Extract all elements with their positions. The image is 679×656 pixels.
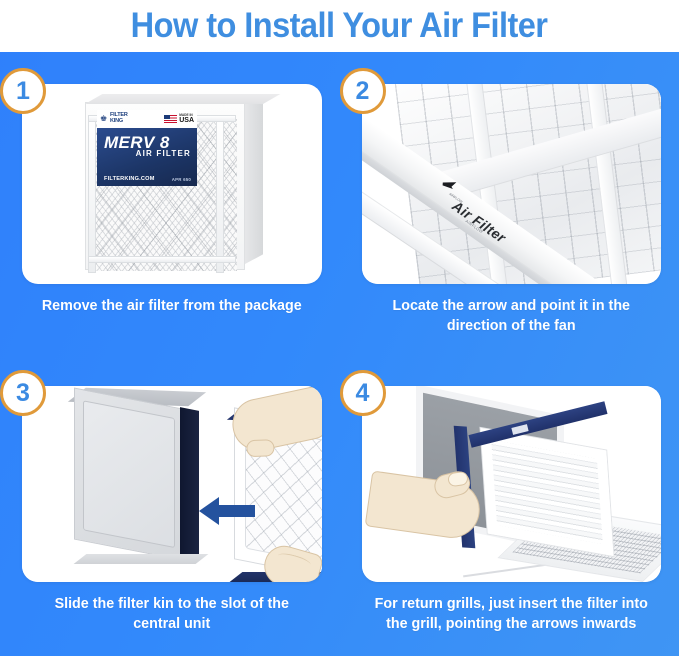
- central-unit-front: [74, 388, 182, 561]
- step-card-2: AIRFLOW Air Filter AIRFLOW 2 Locate the …: [340, 52, 679, 354]
- usa-flag-icon: [164, 115, 177, 123]
- step-caption-1: Remove the air filter from the package: [22, 297, 322, 317]
- step-2-image-card: AIRFLOW Air Filter AIRFLOW: [362, 84, 662, 284]
- header-band: How to Install Your Air Filter: [0, 0, 679, 52]
- step-caption-3: Slide the filter kin to the slot of the …: [22, 595, 322, 634]
- product-label-header: ♚ FILTER KING MADE IN: [97, 110, 197, 128]
- central-unit-bottom: [74, 554, 209, 564]
- made-in-usa-mark: MADE IN USA: [164, 114, 194, 124]
- step-badge-2: 2: [340, 68, 386, 114]
- brand-text: FILTER KING: [110, 113, 128, 124]
- central-unit-slot: [83, 400, 175, 548]
- page-title: How to Install Your Air Filter: [131, 6, 548, 46]
- product-label-body: MERV 8 AIR FILTER FILTERKING.COM APR 650: [97, 128, 197, 186]
- infographic-root: How to Install Your Air Filter: [0, 0, 679, 656]
- steps-grid: ♚ FILTER KING MADE IN: [0, 52, 679, 656]
- merv-block: MERV 8 AIR FILTER: [104, 134, 191, 158]
- step-3-illustration: [22, 386, 322, 582]
- step-4-illustration: [362, 386, 662, 582]
- filter-king-logo: ♚ FILTER KING: [100, 113, 128, 124]
- filter-top-face: [85, 94, 280, 104]
- filter-rail-left: [88, 117, 96, 273]
- slide-direction-arrow-icon: [199, 494, 255, 533]
- step-caption-4: For return grills, just insert the filte…: [362, 595, 662, 634]
- step-card-4: 4 For return grills, just insert the fil…: [340, 354, 679, 656]
- made-in-usa-text: MADE IN USA: [179, 114, 194, 124]
- step-badge-3: 3: [0, 370, 46, 416]
- step-1-illustration: ♚ FILTER KING MADE IN: [22, 84, 322, 284]
- central-unit-slot-opening: [180, 407, 199, 561]
- step-1-image-card: ♚ FILTER KING MADE IN: [22, 84, 322, 284]
- step-card-3: 3 Slide the filter kin to the slot of th…: [0, 354, 340, 656]
- filter-rail-right: [216, 117, 224, 273]
- product-label-footer: FILTERKING.COM APR 650: [104, 176, 191, 182]
- crown-icon: ♚: [100, 115, 108, 123]
- step-card-1: ♚ FILTER KING MADE IN: [0, 52, 340, 354]
- step-3-image-card: [22, 386, 322, 582]
- return-grill-louvers: [491, 440, 603, 544]
- product-label: ♚ FILTER KING MADE IN: [97, 110, 197, 186]
- air-filter-product-icon: ♚ FILTER KING MADE IN: [85, 94, 263, 272]
- step-badge-4: 4: [340, 370, 386, 416]
- step-4-image-card: [362, 386, 662, 582]
- filter-side-face: [245, 94, 263, 264]
- step-2-illustration: AIRFLOW Air Filter AIRFLOW: [362, 84, 662, 284]
- filter-rail-bottom: [88, 256, 236, 263]
- step-badge-1: 1: [0, 68, 46, 114]
- step-caption-2: Locate the arrow and point it in the dir…: [362, 297, 662, 336]
